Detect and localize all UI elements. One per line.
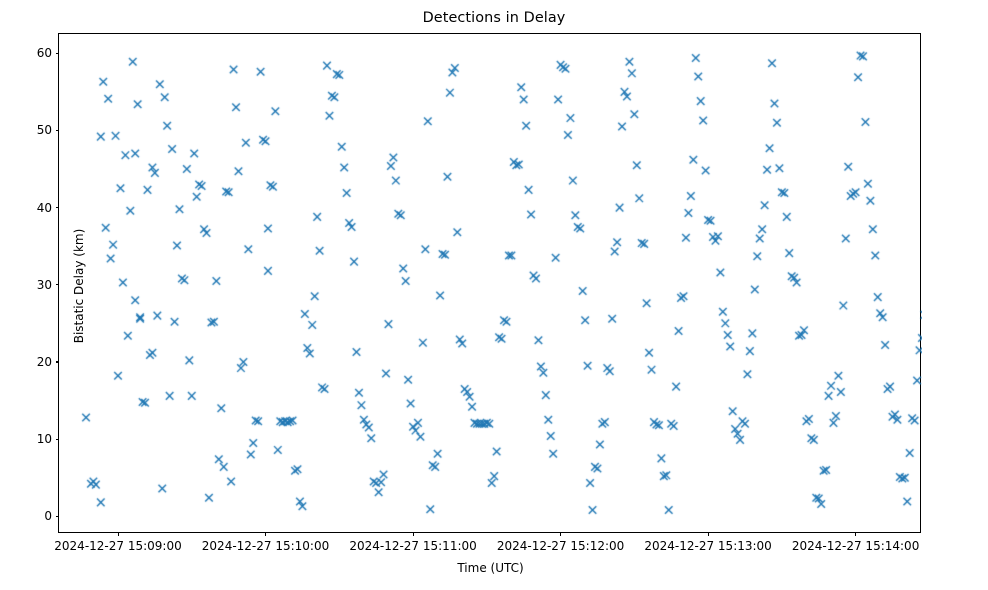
y-tick-mark bbox=[56, 516, 60, 517]
y-tick-label: 40 bbox=[37, 201, 52, 215]
y-tick-mark bbox=[56, 207, 60, 208]
x-axis-label: Time (UTC) bbox=[59, 561, 922, 575]
y-tick-label: 30 bbox=[37, 278, 52, 292]
y-tick-mark bbox=[56, 130, 60, 131]
y-tick-mark bbox=[56, 439, 60, 440]
scatter-plot-canvas bbox=[59, 34, 922, 534]
x-tick-label: 2024-12-27 15:11:00 bbox=[349, 539, 476, 553]
x-tick-mark bbox=[118, 532, 119, 536]
y-tick-label: 60 bbox=[37, 46, 52, 60]
y-tick-label: 0 bbox=[44, 509, 52, 523]
y-tick-mark bbox=[56, 361, 60, 362]
x-tick-mark bbox=[413, 532, 414, 536]
matplotlib-figure: Detections in Delay Bistatic Delay (km) … bbox=[0, 0, 988, 590]
y-tick-mark bbox=[56, 284, 60, 285]
x-tick-mark bbox=[265, 532, 266, 536]
x-tick-label: 2024-12-27 15:12:00 bbox=[497, 539, 624, 553]
x-tick-label: 2024-12-27 15:10:00 bbox=[202, 539, 329, 553]
plot-axes: Bistatic Delay (km) Time (UTC) 010203040… bbox=[58, 33, 921, 533]
x-tick-label: 2024-12-27 15:09:00 bbox=[54, 539, 181, 553]
chart-title: Detections in Delay bbox=[0, 10, 988, 26]
y-tick-label: 20 bbox=[37, 355, 52, 369]
y-tick-label: 10 bbox=[37, 432, 52, 446]
x-tick-mark bbox=[708, 532, 709, 536]
x-tick-label: 2024-12-27 15:13:00 bbox=[644, 539, 771, 553]
y-tick-label: 50 bbox=[37, 123, 52, 137]
y-tick-mark bbox=[56, 53, 60, 54]
y-axis-label: Bistatic Delay (km) bbox=[72, 36, 86, 536]
x-tick-mark bbox=[855, 532, 856, 536]
x-tick-mark bbox=[560, 532, 561, 536]
x-tick-label: 2024-12-27 15:14:00 bbox=[792, 539, 919, 553]
